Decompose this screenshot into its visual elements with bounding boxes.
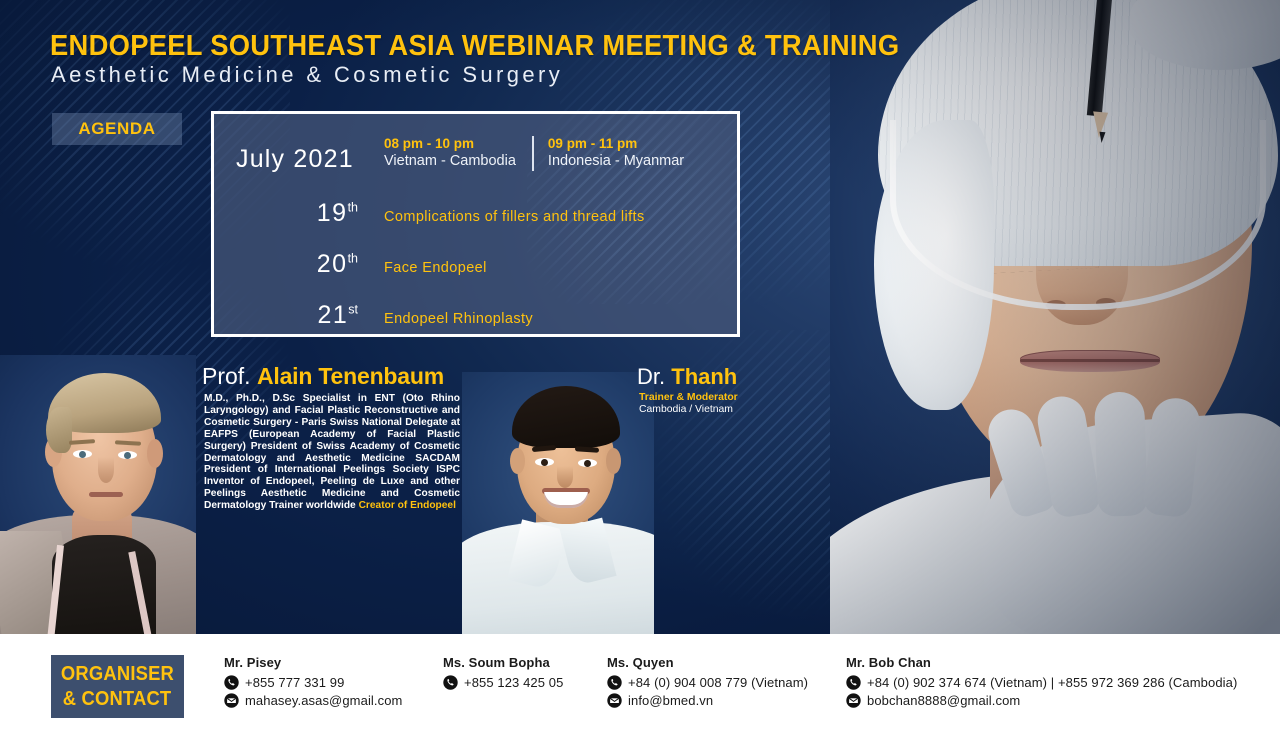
marking-pencil-lead bbox=[1099, 132, 1106, 143]
speaker-pupil-right bbox=[584, 460, 591, 467]
agenda-day-suffix: st bbox=[348, 303, 358, 317]
agenda-month: July 2021 bbox=[236, 145, 354, 174]
speaker-hair-side bbox=[46, 407, 72, 453]
contact-email[interactable]: info@bmed.vn bbox=[628, 693, 713, 708]
agenda-day-suffix: th bbox=[348, 201, 358, 215]
speaker-fullname: Thanh bbox=[671, 364, 737, 389]
agenda-row: 21st Endopeel Rhinoplasty bbox=[214, 301, 737, 330]
contact-email-line: bobchan8888@gmail.com bbox=[846, 693, 1237, 708]
agenda-day: 21st bbox=[214, 301, 364, 330]
timezone-time: 09 pm - 11 pm bbox=[548, 135, 684, 152]
contact-phone-line: +84 (0) 904 008 779 (Vietnam) bbox=[607, 675, 808, 690]
phone-icon bbox=[607, 675, 622, 690]
speaker-nose bbox=[557, 466, 573, 488]
contact-email[interactable]: bobchan8888@gmail.com bbox=[867, 693, 1020, 708]
phone-icon bbox=[224, 675, 239, 690]
speaker-nose bbox=[98, 457, 114, 483]
glove-finger bbox=[1094, 391, 1148, 517]
contact-block: Ms. Quyen +84 (0) 904 008 779 (Vietnam) … bbox=[607, 655, 808, 711]
organiser-label-line1: ORGANISER bbox=[61, 662, 174, 687]
contact-block: Mr. Pisey +855 777 331 99 mahasey.asas@g… bbox=[224, 655, 403, 711]
timezone-column-2: 09 pm - 11 pm Indonesia - Myanmar bbox=[548, 135, 684, 170]
contact-name: Ms. Quyen bbox=[607, 655, 808, 670]
speaker-ear-right bbox=[147, 439, 163, 468]
agenda-day: 20th bbox=[214, 250, 364, 279]
contact-phone[interactable]: +84 (0) 904 008 779 (Vietnam) bbox=[628, 675, 808, 690]
page-title: ENDOPEEL SOUTHEAST ASIA WEBINAR MEETING … bbox=[50, 30, 899, 63]
agenda-badge-label: AGENDA bbox=[78, 119, 155, 139]
timezone-column-1: 08 pm - 10 pm Vietnam - Cambodia bbox=[384, 135, 516, 170]
agenda-day-number: 21 bbox=[317, 301, 348, 329]
agenda-badge: AGENDA bbox=[52, 113, 182, 145]
agenda-day-number: 20 bbox=[317, 250, 348, 278]
agenda-row: 20th Face Endopeel bbox=[214, 250, 737, 279]
timezone-place: Indonesia - Myanmar bbox=[548, 152, 684, 170]
timezone-place: Vietnam - Cambodia bbox=[384, 152, 516, 170]
envelope-icon bbox=[607, 693, 622, 708]
speaker-bio-text: M.D., Ph.D., D.Sc Specialist in ENT (Oto… bbox=[204, 393, 460, 511]
contact-phone-line: +84 (0) 902 374 674 (Vietnam) | +855 972… bbox=[846, 675, 1237, 690]
contact-email[interactable]: mahasey.asas@gmail.com bbox=[245, 693, 403, 708]
contact-email-line: mahasey.asas@gmail.com bbox=[224, 693, 403, 708]
timezone-time: 08 pm - 10 pm bbox=[384, 135, 516, 152]
agenda-row: 19th Complications of fillers and thread… bbox=[214, 199, 737, 228]
timezone-row: 08 pm - 10 pm Vietnam - Cambodia 09 pm -… bbox=[384, 135, 684, 171]
organiser-contact-badge: ORGANISER & CONTACT bbox=[51, 655, 184, 718]
agenda-topic: Face Endopeel bbox=[384, 260, 487, 276]
speaker-pupil-right bbox=[124, 452, 131, 459]
contact-block: Mr. Bob Chan +84 (0) 902 374 674 (Vietna… bbox=[846, 655, 1237, 711]
footer-contact-bar: ORGANISER & CONTACT Mr. Pisey +855 777 3… bbox=[0, 634, 1280, 736]
speaker-name-alain: Prof. Alain Tenenbaum bbox=[202, 363, 444, 390]
speaker-name-thanh: Dr. Thanh bbox=[637, 364, 737, 390]
agenda-topic: Endopeel Rhinoplasty bbox=[384, 311, 533, 327]
organiser-label-line2: & CONTACT bbox=[63, 687, 172, 712]
speaker-prefix: Prof. bbox=[202, 363, 251, 389]
speaker-pupil-left bbox=[541, 459, 548, 466]
phone-icon bbox=[443, 675, 458, 690]
speaker-ear-left bbox=[510, 448, 525, 474]
patient-lip-line bbox=[1020, 359, 1160, 362]
agenda-box: July 2021 08 pm - 10 pm Vietnam - Cambod… bbox=[211, 111, 740, 337]
envelope-icon bbox=[224, 693, 239, 708]
agenda-day: 19th bbox=[214, 199, 364, 228]
contact-email-line: info@bmed.vn bbox=[607, 693, 808, 708]
agenda-topic: Complications of fillers and thread lift… bbox=[384, 209, 645, 225]
speaker-role-thanh: Trainer & Moderator bbox=[639, 392, 738, 403]
timezone-divider bbox=[532, 136, 534, 171]
contact-block: Ms. Soum Bopha +855 123 425 05 bbox=[443, 655, 563, 693]
speaker-photo-dr-thanh bbox=[462, 372, 654, 634]
hero-surgery-photo bbox=[830, 0, 1280, 634]
phone-icon bbox=[846, 675, 861, 690]
speaker-prefix: Dr. bbox=[637, 364, 665, 389]
contact-phone[interactable]: +84 (0) 902 374 674 (Vietnam) | +855 972… bbox=[867, 675, 1237, 690]
contact-name: Mr. Pisey bbox=[224, 655, 403, 670]
speaker-pupil-left bbox=[79, 451, 86, 458]
speaker-photo-alain-tenenbaum bbox=[0, 355, 196, 634]
contact-name: Mr. Bob Chan bbox=[846, 655, 1237, 670]
envelope-icon bbox=[846, 693, 861, 708]
contact-phone-line: +855 123 425 05 bbox=[443, 675, 563, 690]
webinar-poster: ENDOPEEL SOUTHEAST ASIA WEBINAR MEETING … bbox=[0, 0, 1280, 736]
speaker-bio-highlight: Creator of Endopeel bbox=[359, 500, 456, 511]
contact-phone[interactable]: +855 123 425 05 bbox=[464, 675, 563, 690]
speaker-ear-right bbox=[606, 448, 621, 474]
speaker-mouth bbox=[89, 492, 123, 497]
speaker-fullname: Alain Tenenbaum bbox=[257, 363, 444, 389]
contact-phone-line: +855 777 331 99 bbox=[224, 675, 403, 690]
agenda-day-suffix: th bbox=[348, 252, 358, 266]
speaker-bio-alain: M.D., Ph.D., D.Sc Specialist in ENT (Oto… bbox=[204, 393, 460, 512]
page-subtitle: Aesthetic Medicine & Cosmetic Surgery bbox=[51, 62, 563, 88]
speaker-location-thanh: Cambodia / Vietnam bbox=[639, 404, 733, 415]
contact-name: Ms. Soum Bopha bbox=[443, 655, 563, 670]
contact-phone[interactable]: +855 777 331 99 bbox=[245, 675, 344, 690]
agenda-day-number: 19 bbox=[317, 199, 348, 227]
